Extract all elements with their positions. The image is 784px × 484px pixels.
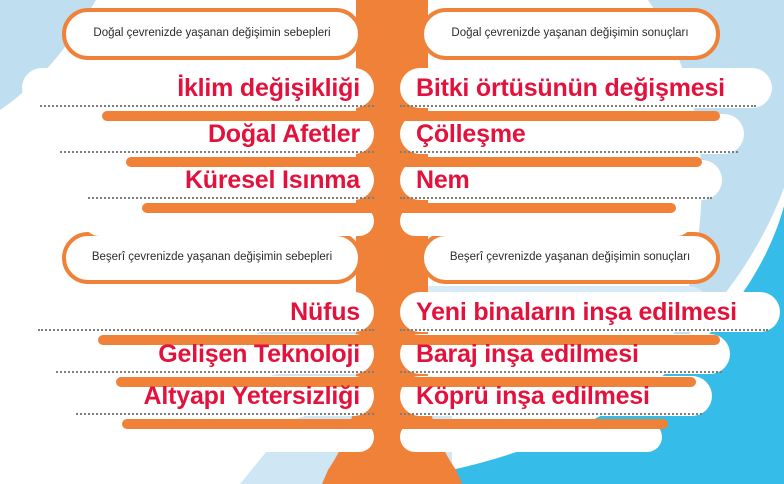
row-bar [400,203,676,213]
bone-row[interactable]: Nem [400,160,722,216]
header-human-causes: Beşerî çevrenizde yaşanan değişimin sebe… [62,232,362,284]
item-label: Gelişen Teknoloji [158,334,360,374]
header-natural-causes: Doğal çevrenizde yaşanan değişimin sebep… [62,8,362,60]
item-label: Küresel Isınma [185,160,360,200]
item-label: Yeni binaların inşa edilmesi [416,292,737,332]
item-label: Nüfus [290,292,360,332]
item-label: İklim değişikliği [177,68,360,108]
row-bar [142,203,374,213]
worksheet-canvas: Doğal çevrenizde yaşanan değişimin sebep… [0,0,784,484]
right-column: Doğal çevrenizde yaşanan değişimin sonuç… [392,0,784,484]
bone-row[interactable]: Altyapı Yetersizliği [52,376,374,432]
left-column: Doğal çevrenizde yaşanan değişimin sebep… [0,0,392,484]
item-label: Altyapı Yetersizliği [144,376,360,416]
header-natural-effects: Doğal çevrenizde yaşanan değişimin sonuç… [420,8,720,60]
item-label: Köprü inşa edilmesi [416,376,650,416]
item-label: Nem [416,160,470,200]
row-bar [122,419,374,429]
row-bar [400,419,668,429]
item-label: Bitki örtüsünün değişmesi [416,68,725,108]
item-label: Baraj inşa edilmesi [416,334,639,374]
item-label: Çölleşme [416,114,526,154]
header-human-effects: Beşerî çevrenizde yaşanan değişimin sonu… [420,232,720,284]
item-label: Doğal Afetler [208,114,360,154]
